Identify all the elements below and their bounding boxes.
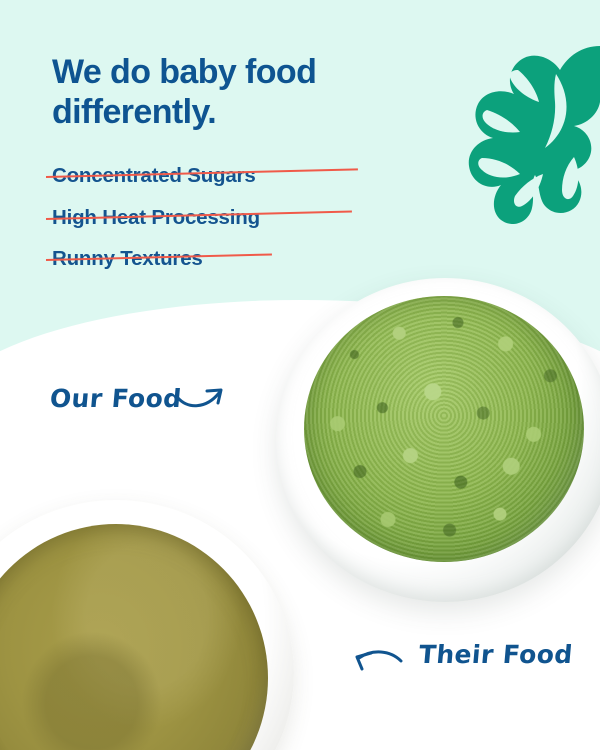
arrow-left-icon xyxy=(352,641,404,675)
our-food-bowl xyxy=(276,278,600,602)
arrow-right-icon xyxy=(176,382,226,416)
struck-attributes-list: Concentrated Sugars High Heat Processing… xyxy=(52,166,382,291)
list-item: High Heat Processing xyxy=(52,208,382,229)
headline-line-2: differently. xyxy=(52,92,382,132)
list-item: Runny Textures xyxy=(52,249,382,270)
our-food-label: Our Food xyxy=(49,384,183,413)
bowl-rim-shading xyxy=(276,278,600,602)
their-food-label: Their Food xyxy=(418,640,574,669)
poster-canvas: We do baby food differently. Concentrate… xyxy=(0,0,600,750)
page-title: We do baby food differently. xyxy=(52,52,382,132)
headline-line-1: We do baby food xyxy=(52,52,382,92)
list-item: Concentrated Sugars xyxy=(52,166,382,187)
